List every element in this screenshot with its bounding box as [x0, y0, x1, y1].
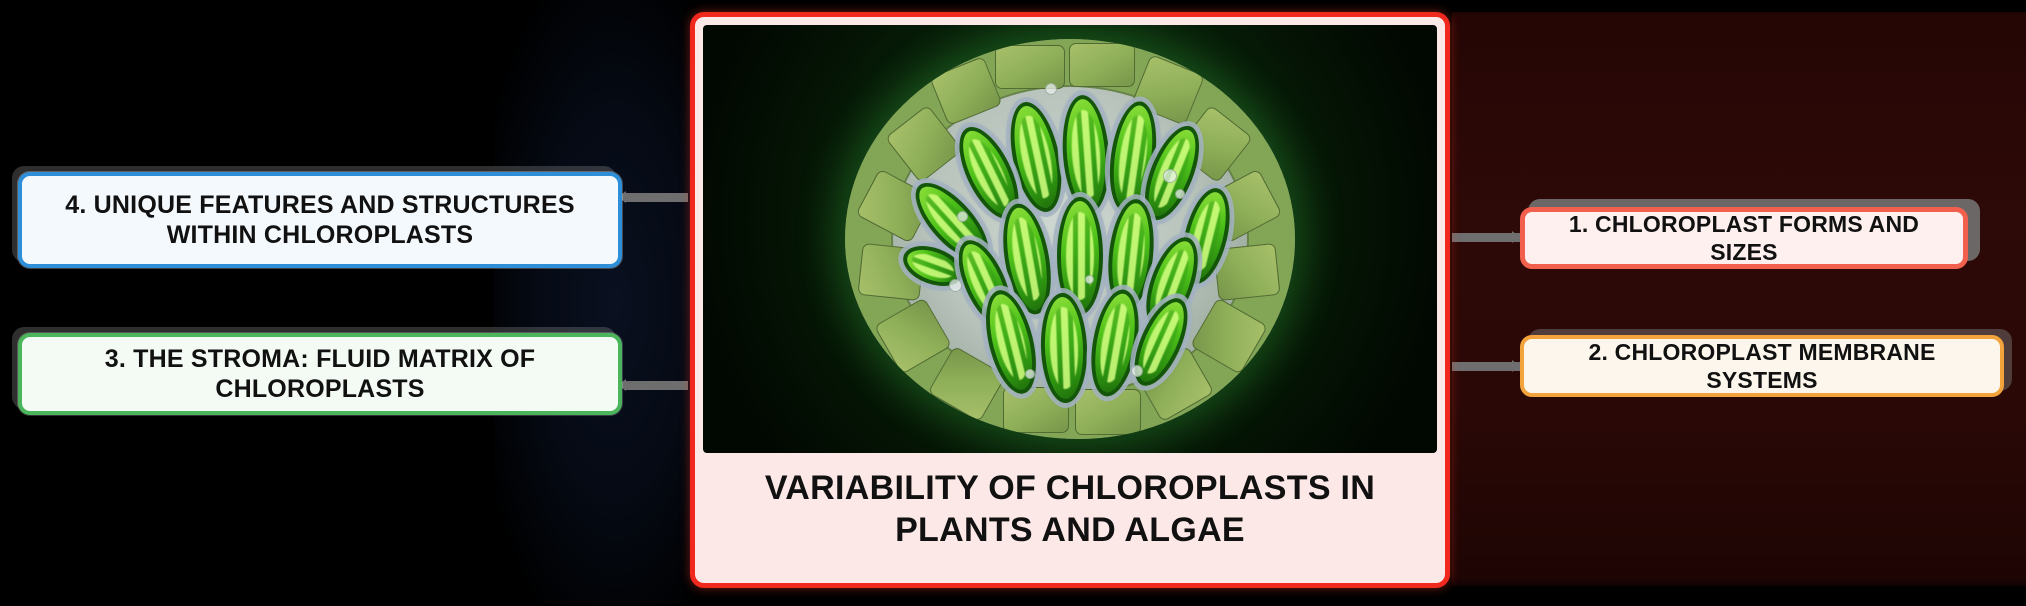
- right-glow-panel: [1452, 12, 2026, 586]
- mindmap-canvas: VARIABILITY OF CHLOROPLASTS IN PLANTS AN…: [0, 0, 2026, 606]
- node-the-stroma-fluid-matrix[interactable]: 3. THE STROMA: FLUID MATRIX OF CHLOROPLA…: [18, 333, 622, 415]
- cytoplasm-vesicle: [1163, 169, 1177, 183]
- connector-node-1: [1452, 233, 1522, 242]
- right-glow-fade: [1452, 0, 2026, 606]
- cytoplasm-vesicle: [1085, 275, 1094, 284]
- node-unique-features-and-structures[interactable]: 4. UNIQUE FEATURES AND STRUCTURES WITHIN…: [18, 172, 622, 268]
- cytoplasm-vesicle: [1045, 83, 1057, 95]
- connector-arrow-node-1: [1512, 231, 1520, 243]
- cytoplasm-vesicle: [949, 279, 962, 292]
- cytoplasm-vesicle: [957, 211, 968, 222]
- center-topic-card[interactable]: VARIABILITY OF CHLOROPLASTS IN PLANTS AN…: [690, 12, 1450, 588]
- center-topic-title: VARIABILITY OF CHLOROPLASTS IN PLANTS AN…: [703, 453, 1437, 583]
- connector-arrow-node-2: [1512, 360, 1520, 372]
- chloroplast-cell-micrograph: [703, 25, 1437, 453]
- cell-wall-segment: [995, 45, 1065, 89]
- connector-node-3: [624, 381, 688, 390]
- plant-cell-body: [845, 39, 1295, 439]
- cytoplasm-vesicle: [1131, 365, 1143, 377]
- node-chloroplast-forms-and-sizes[interactable]: 1. CHLOROPLAST FORMS AND SIZES: [1520, 207, 1968, 269]
- cytoplasm-vesicle: [1025, 369, 1035, 379]
- left-glow-panel: [494, 0, 694, 606]
- cell-wall-segment: [1213, 243, 1280, 301]
- cell-wall-segment: [1069, 43, 1135, 87]
- connector-node-4: [624, 193, 688, 202]
- node-chloroplast-membrane-systems[interactable]: 2. CHLOROPLAST MEMBRANE SYSTEMS: [1520, 335, 2004, 397]
- connector-node-2: [1452, 362, 1522, 371]
- cytoplasm-vesicle: [1175, 189, 1185, 199]
